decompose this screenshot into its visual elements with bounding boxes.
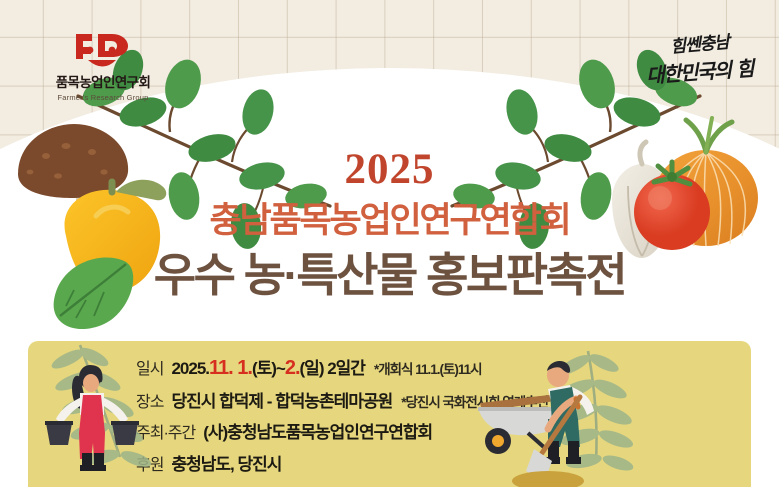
info-label-venue: 장소 [136, 388, 163, 412]
info-label-host: 주최·주간 [136, 419, 195, 443]
promotional-poster: 품목농업인연구회 Farmer's Research Group 힘쎈충남 대한… [0, 0, 779, 487]
date-end-highlight: 2. [285, 357, 300, 379]
event-info-list: 일시 2025.11. 1.(토)~2.(일) 2일간 *개회식 11.1.(토… [136, 354, 741, 481]
organization-logo: 품목농업인연구회 Farmer's Research Group [38, 32, 168, 102]
date-mid: (토)~ [252, 359, 285, 378]
fd-farmer-face-logo-icon [72, 32, 134, 72]
headline-organization: 충남품목농업인연구연합회 [0, 203, 779, 238]
chungnam-slogan: 힘쎈충남 대한민국의 힘 [646, 30, 753, 85]
info-note-date: *개회식 11.1.(토)11시 [374, 358, 482, 378]
logo-english-name: Farmer's Research Group [38, 93, 168, 102]
info-row-host: 주최·주간 (사)충청남도품목농업인연구연합회 [136, 418, 741, 443]
info-row-venue: 장소 당진시 합덕제 - 합덕농촌테마공원 *당진시 국화전시회 연계추진 [136, 387, 741, 412]
info-value-sponsor: 충청남도, 당진시 [171, 450, 281, 475]
info-value-venue: 당진시 합덕제 - 합덕농촌테마공원 [171, 387, 392, 412]
date-suffix: (일) 2일간 [300, 359, 365, 378]
poster-headline: 2025 충남품목농업인연구연합회 우수 농·특산물 홍보판촉전 [0, 148, 779, 298]
date-year: 2025. [171, 359, 209, 378]
info-value-date: 2025.11. 1.(토)~2.(일) 2일간 [171, 354, 364, 380]
logo-korean-name: 품목농업인연구회 [38, 76, 168, 91]
page-title: 우수 농·특산물 홍보판촉전 [0, 252, 779, 298]
info-row-sponsor: 후원 충청남도, 당진시 [136, 450, 741, 475]
headline-year: 2025 [0, 148, 779, 191]
info-label-date: 일시 [136, 355, 163, 379]
info-label-sponsor: 후원 [136, 451, 163, 475]
female-farmer-with-buckets-icon [45, 365, 139, 471]
event-info-panel: 일시 2025.11. 1.(토)~2.(일) 2일간 *개회식 11.1.(토… [28, 341, 751, 487]
info-value-host: (사)충청남도품목농업인연구연합회 [203, 418, 432, 443]
info-row-date: 일시 2025.11. 1.(토)~2.(일) 2일간 *개회식 11.1.(토… [136, 354, 741, 380]
slogan-line-2: 대한민국의 힘 [645, 52, 754, 88]
info-note-venue: *당진시 국화전시회 연계추진 [401, 391, 548, 411]
date-start-highlight: 11. 1. [209, 357, 252, 379]
